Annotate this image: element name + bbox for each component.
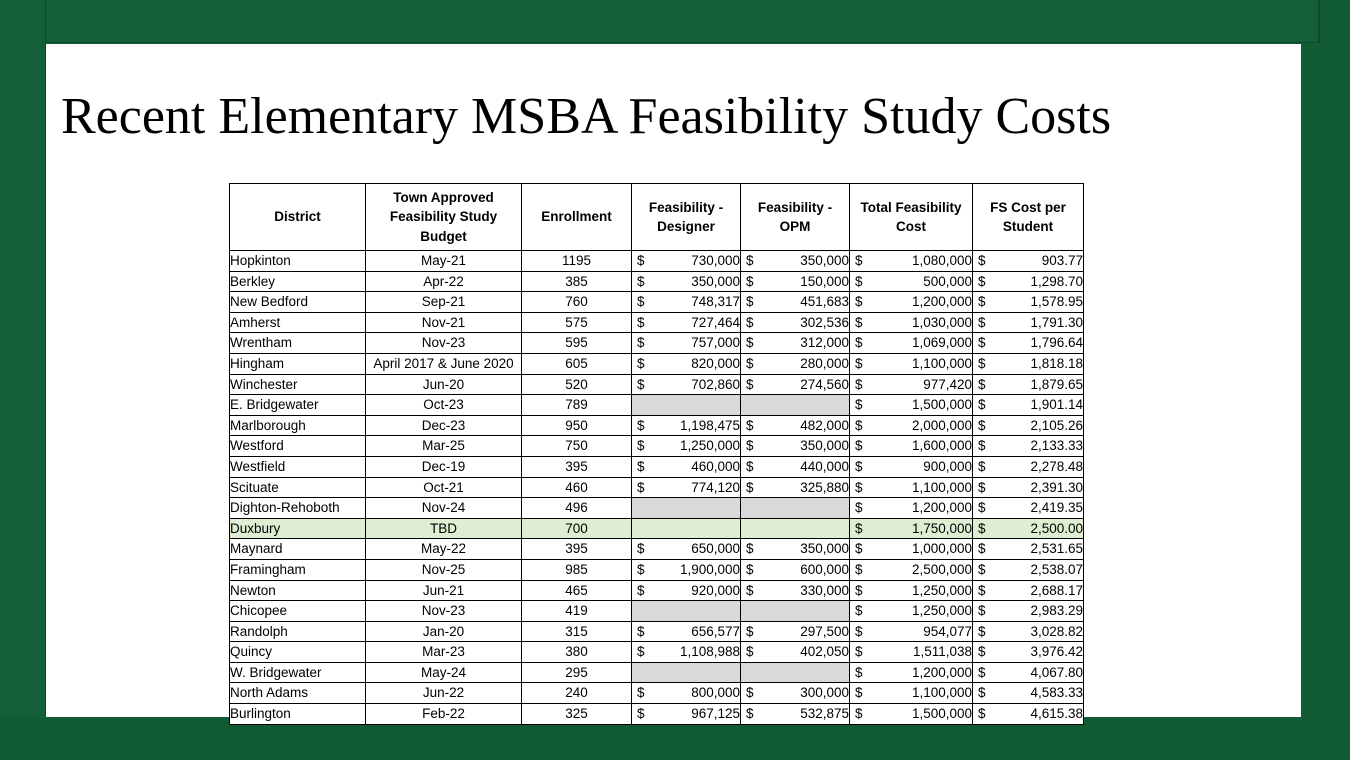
- currency-symbol: $: [855, 333, 863, 353]
- cell-per-student-value: 1,818.18: [1030, 356, 1083, 371]
- currency-symbol: $: [978, 539, 986, 559]
- cell-designer: $967,125: [632, 704, 741, 725]
- column-header-total-cost: Total Feasibility Cost: [850, 184, 973, 251]
- cell-enrollment: 240: [522, 683, 632, 704]
- table-row: E. BridgewaterOct-23789$1,500,000$1,901.…: [230, 395, 1084, 416]
- table-row: WinchesterJun-20520$702,860$274,560$977,…: [230, 374, 1084, 395]
- currency-symbol: $: [855, 663, 863, 683]
- cell-per-student: $1,901.14: [973, 395, 1084, 416]
- cell-budget-date: Feb-22: [366, 704, 522, 725]
- currency-symbol: $: [637, 642, 645, 662]
- currency-symbol: $: [637, 581, 645, 601]
- cell-district: Marlborough: [230, 415, 366, 436]
- cell-designer-value: 702,860: [691, 377, 740, 392]
- currency-symbol: $: [746, 478, 754, 498]
- cell-per-student-value: 1,298.70: [1030, 274, 1083, 289]
- cell-opm: [741, 518, 850, 539]
- cell-opm-value: 532,875: [800, 706, 849, 721]
- table-row: BerkleyApr-22385$350,000$150,000$500,000…: [230, 271, 1084, 292]
- currency-symbol: $: [637, 272, 645, 292]
- table-row: DuxburyTBD700$1,750,000$2,500.00: [230, 518, 1084, 539]
- cell-budget-date: Dec-19: [366, 456, 522, 477]
- currency-symbol: $: [855, 581, 863, 601]
- currency-symbol: $: [637, 333, 645, 353]
- cell-district: New Bedford: [230, 292, 366, 313]
- cell-district: Framingham: [230, 559, 366, 580]
- currency-symbol: $: [746, 292, 754, 312]
- cell-opm: $300,000: [741, 683, 850, 704]
- column-header-designer: Feasibility - Designer: [632, 184, 741, 251]
- currency-symbol: $: [978, 560, 986, 580]
- currency-symbol: $: [855, 601, 863, 621]
- cell-total: $1,069,000: [850, 333, 973, 354]
- currency-symbol: $: [855, 416, 863, 436]
- table-row: NewtonJun-21465$920,000$330,000$1,250,00…: [230, 580, 1084, 601]
- cell-designer-value: 920,000: [691, 583, 740, 598]
- cell-total: $1,200,000: [850, 662, 973, 683]
- table-row: Dighton-RehobothNov-24496$1,200,000$2,41…: [230, 498, 1084, 519]
- cell-per-student-value: 1,901.14: [1030, 397, 1083, 412]
- cell-designer-value: 774,120: [691, 480, 740, 495]
- cell-enrollment: 419: [522, 601, 632, 622]
- table-row: W. BridgewaterMay-24295$1,200,000$4,067.…: [230, 662, 1084, 683]
- cell-total: $1,200,000: [850, 498, 973, 519]
- currency-symbol: $: [746, 333, 754, 353]
- currency-symbol: $: [855, 642, 863, 662]
- cell-designer: [632, 662, 741, 683]
- cell-budget-date: May-24: [366, 662, 522, 683]
- currency-symbol: $: [746, 622, 754, 642]
- currency-symbol: $: [746, 457, 754, 477]
- currency-symbol: $: [855, 375, 863, 395]
- cell-per-student: $3,976.42: [973, 642, 1084, 663]
- cell-total: $2,500,000: [850, 559, 973, 580]
- cell-designer: $1,108,988: [632, 642, 741, 663]
- cell-district: Chicopee: [230, 601, 366, 622]
- table-row: New BedfordSep-21760$748,317$451,683$1,2…: [230, 292, 1084, 313]
- cell-district: E. Bridgewater: [230, 395, 366, 416]
- cell-designer: $920,000: [632, 580, 741, 601]
- table-row: HopkintonMay-211195$730,000$350,000$1,08…: [230, 251, 1084, 272]
- currency-symbol: $: [978, 416, 986, 436]
- cell-designer: $702,860: [632, 374, 741, 395]
- cell-enrollment: 595: [522, 333, 632, 354]
- cell-total-value: 1,000,000: [912, 541, 972, 556]
- cell-district: Burlington: [230, 704, 366, 725]
- table-row: North AdamsJun-22240$800,000$300,000$1,1…: [230, 683, 1084, 704]
- cell-total-value: 2,000,000: [912, 418, 972, 433]
- cell-total-value: 2,500,000: [912, 562, 972, 577]
- cell-total: $1,250,000: [850, 601, 973, 622]
- currency-symbol: $: [978, 395, 986, 415]
- currency-symbol: $: [637, 292, 645, 312]
- cell-opm-value: 274,560: [800, 377, 849, 392]
- feasibility-study-costs-table: District Town Approved Feasibility Study…: [229, 183, 1084, 725]
- currency-symbol: $: [746, 581, 754, 601]
- cell-opm: $402,050: [741, 642, 850, 663]
- cell-opm-value: 150,000: [800, 274, 849, 289]
- table-row: RandolphJan-20315$656,577$297,500$954,07…: [230, 621, 1084, 642]
- cell-total-value: 1,250,000: [912, 603, 972, 618]
- cell-designer-value: 820,000: [691, 356, 740, 371]
- cell-per-student-value: 2,538.07: [1030, 562, 1083, 577]
- currency-symbol: $: [637, 354, 645, 374]
- currency-symbol: $: [855, 478, 863, 498]
- cell-opm: $302,536: [741, 312, 850, 333]
- cell-designer: [632, 498, 741, 519]
- cell-per-student: $2,983.29: [973, 601, 1084, 622]
- cell-district: Hopkinton: [230, 251, 366, 272]
- cell-enrollment: 295: [522, 662, 632, 683]
- cell-opm-value: 330,000: [800, 583, 849, 598]
- currency-symbol: $: [855, 251, 863, 271]
- cell-opm: $350,000: [741, 251, 850, 272]
- cell-per-student-value: 1,791.30: [1030, 315, 1083, 330]
- currency-symbol: $: [978, 251, 986, 271]
- cell-opm-value: 302,536: [800, 315, 849, 330]
- table-row: HinghamApril 2017 & June 2020605$820,000…: [230, 353, 1084, 374]
- currency-symbol: $: [746, 313, 754, 333]
- table-row: AmherstNov-21575$727,464$302,536$1,030,0…: [230, 312, 1084, 333]
- cell-enrollment: 465: [522, 580, 632, 601]
- cell-budget-date: Jan-20: [366, 621, 522, 642]
- cell-designer: $460,000: [632, 456, 741, 477]
- cell-budget-date: Oct-21: [366, 477, 522, 498]
- cell-per-student-value: 4,615.38: [1030, 706, 1083, 721]
- cell-budget-date: Nov-23: [366, 601, 522, 622]
- cell-total-value: 900,000: [923, 459, 972, 474]
- cell-enrollment: 575: [522, 312, 632, 333]
- cell-enrollment: 385: [522, 271, 632, 292]
- currency-symbol: $: [978, 519, 986, 539]
- cell-per-student-value: 1,879.65: [1030, 377, 1083, 392]
- cell-total: $1,000,000: [850, 539, 973, 560]
- currency-symbol: $: [746, 642, 754, 662]
- cell-designer: $757,000: [632, 333, 741, 354]
- currency-symbol: $: [855, 498, 863, 518]
- currency-symbol: $: [978, 498, 986, 518]
- cell-total-value: 1,200,000: [912, 665, 972, 680]
- currency-symbol: $: [637, 457, 645, 477]
- cell-designer: $727,464: [632, 312, 741, 333]
- cell-designer-value: 800,000: [691, 685, 740, 700]
- cell-total: $900,000: [850, 456, 973, 477]
- cell-designer-value: 460,000: [691, 459, 740, 474]
- cell-district: Winchester: [230, 374, 366, 395]
- cell-district: W. Bridgewater: [230, 662, 366, 683]
- cell-district: Wrentham: [230, 333, 366, 354]
- cell-per-student: $2,419.35: [973, 498, 1084, 519]
- cell-designer-value: 1,250,000: [680, 438, 740, 453]
- cell-designer: $350,000: [632, 271, 741, 292]
- currency-symbol: $: [978, 622, 986, 642]
- cell-budget-date: Nov-23: [366, 333, 522, 354]
- cell-opm: [741, 498, 850, 519]
- column-header-district: District: [230, 184, 366, 251]
- currency-symbol: $: [746, 354, 754, 374]
- cell-per-student: $4,583.33: [973, 683, 1084, 704]
- cell-district: Westfield: [230, 456, 366, 477]
- cell-designer-value: 967,125: [691, 706, 740, 721]
- cell-designer: $748,317: [632, 292, 741, 313]
- cell-total-value: 1,080,000: [912, 253, 972, 268]
- cell-designer-value: 650,000: [691, 541, 740, 556]
- cell-total-value: 954,077: [923, 624, 972, 639]
- cell-opm: $312,000: [741, 333, 850, 354]
- cell-total: $1,500,000: [850, 704, 973, 725]
- cell-budget-date: Sep-21: [366, 292, 522, 313]
- currency-symbol: $: [855, 395, 863, 415]
- currency-symbol: $: [855, 519, 863, 539]
- cell-budget-date: April 2017 & June 2020: [366, 353, 522, 374]
- cell-per-student: $2,538.07: [973, 559, 1084, 580]
- cell-opm-value: 482,000: [800, 418, 849, 433]
- cell-district: Randolph: [230, 621, 366, 642]
- cell-enrollment: 395: [522, 539, 632, 560]
- cell-enrollment: 985: [522, 559, 632, 580]
- table-row: WestfordMar-25750$1,250,000$350,000$1,60…: [230, 436, 1084, 457]
- cell-district: Amherst: [230, 312, 366, 333]
- feasibility-table-container: District Town Approved Feasibility Study…: [229, 183, 1084, 725]
- cell-budget-date: Jun-20: [366, 374, 522, 395]
- cell-budget-date: Jun-22: [366, 683, 522, 704]
- cell-enrollment: 520: [522, 374, 632, 395]
- cell-total: $1,100,000: [850, 477, 973, 498]
- cell-per-student: $4,067.80: [973, 662, 1084, 683]
- slide-root: Recent Elementary MSBA Feasibility Study…: [0, 0, 1350, 760]
- cell-district: Dighton-Rehoboth: [230, 498, 366, 519]
- cell-per-student-value: 1,578.95: [1030, 294, 1083, 309]
- cell-opm: $600,000: [741, 559, 850, 580]
- cell-opm: $274,560: [741, 374, 850, 395]
- currency-symbol: $: [855, 560, 863, 580]
- cell-district: Scituate: [230, 477, 366, 498]
- currency-symbol: $: [637, 704, 645, 724]
- cell-opm: [741, 601, 850, 622]
- cell-district: Duxbury: [230, 518, 366, 539]
- cell-total: $1,030,000: [850, 312, 973, 333]
- cell-per-student: $3,028.82: [973, 621, 1084, 642]
- table-body: HopkintonMay-211195$730,000$350,000$1,08…: [230, 251, 1084, 725]
- table-row: FraminghamNov-25985$1,900,000$600,000$2,…: [230, 559, 1084, 580]
- currency-symbol: $: [746, 436, 754, 456]
- cell-designer-value: 727,464: [691, 315, 740, 330]
- cell-total-value: 1,250,000: [912, 583, 972, 598]
- currency-symbol: $: [855, 622, 863, 642]
- cell-total: $1,200,000: [850, 292, 973, 313]
- cell-total: $977,420: [850, 374, 973, 395]
- cell-budget-date: Nov-25: [366, 559, 522, 580]
- table-header-row: District Town Approved Feasibility Study…: [230, 184, 1084, 251]
- cell-budget-date: Mar-25: [366, 436, 522, 457]
- cell-total-value: 500,000: [923, 274, 972, 289]
- cell-opm-value: 300,000: [800, 685, 849, 700]
- cell-opm-value: 600,000: [800, 562, 849, 577]
- cell-enrollment: 950: [522, 415, 632, 436]
- column-header-opm: Feasibility - OPM: [741, 184, 850, 251]
- cell-district: Berkley: [230, 271, 366, 292]
- cell-district: North Adams: [230, 683, 366, 704]
- currency-symbol: $: [978, 704, 986, 724]
- currency-symbol: $: [746, 704, 754, 724]
- cell-per-student-value: 2,105.26: [1030, 418, 1083, 433]
- cell-budget-date: May-22: [366, 539, 522, 560]
- cell-designer: [632, 395, 741, 416]
- cell-district: Hingham: [230, 353, 366, 374]
- currency-symbol: $: [746, 539, 754, 559]
- column-header-cost-per-student: FS Cost per Student: [973, 184, 1084, 251]
- cell-enrollment: 750: [522, 436, 632, 457]
- cell-opm-value: 350,000: [800, 541, 849, 556]
- cell-opm: $532,875: [741, 704, 850, 725]
- currency-symbol: $: [855, 354, 863, 374]
- cell-per-student: $1,791.30: [973, 312, 1084, 333]
- cell-per-student: $1,298.70: [973, 271, 1084, 292]
- table-row: ScituateOct-21460$774,120$325,880$1,100,…: [230, 477, 1084, 498]
- cell-opm-value: 350,000: [800, 253, 849, 268]
- table-row: MaynardMay-22395$650,000$350,000$1,000,0…: [230, 539, 1084, 560]
- currency-symbol: $: [978, 436, 986, 456]
- cell-designer: $1,250,000: [632, 436, 741, 457]
- cell-opm: $297,500: [741, 621, 850, 642]
- cell-designer: $774,120: [632, 477, 741, 498]
- cell-opm: $330,000: [741, 580, 850, 601]
- currency-symbol: $: [637, 436, 645, 456]
- cell-budget-date: Nov-24: [366, 498, 522, 519]
- cell-opm: $280,000: [741, 353, 850, 374]
- cell-per-student-value: 4,583.33: [1030, 685, 1083, 700]
- cell-opm: $350,000: [741, 436, 850, 457]
- cell-total: $1,500,000: [850, 395, 973, 416]
- cell-total: $1,750,000: [850, 518, 973, 539]
- currency-symbol: $: [978, 478, 986, 498]
- currency-symbol: $: [746, 683, 754, 703]
- currency-symbol: $: [978, 313, 986, 333]
- cell-total-value: 1,200,000: [912, 500, 972, 515]
- cell-opm: $150,000: [741, 271, 850, 292]
- cell-per-student: $1,578.95: [973, 292, 1084, 313]
- currency-symbol: $: [855, 457, 863, 477]
- cell-total: $1,511,038: [850, 642, 973, 663]
- currency-symbol: $: [978, 601, 986, 621]
- cell-total-value: 1,511,038: [913, 644, 972, 659]
- column-header-enrollment: Enrollment: [522, 184, 632, 251]
- currency-symbol: $: [637, 478, 645, 498]
- currency-symbol: $: [637, 539, 645, 559]
- cell-per-student: $2,500.00: [973, 518, 1084, 539]
- cell-per-student: $2,531.65: [973, 539, 1084, 560]
- cell-budget-date: Nov-21: [366, 312, 522, 333]
- currency-symbol: $: [855, 683, 863, 703]
- cell-per-student-value: 2,983.29: [1030, 603, 1083, 618]
- currency-symbol: $: [855, 292, 863, 312]
- cell-total-value: 1,100,000: [912, 356, 972, 371]
- cell-enrollment: 605: [522, 353, 632, 374]
- cell-opm-value: 325,880: [800, 480, 849, 495]
- currency-symbol: $: [746, 272, 754, 292]
- cell-per-student: $4,615.38: [973, 704, 1084, 725]
- cell-budget-date: TBD: [366, 518, 522, 539]
- cell-opm: $482,000: [741, 415, 850, 436]
- cell-enrollment: 496: [522, 498, 632, 519]
- cell-district: Maynard: [230, 539, 366, 560]
- cell-total-value: 1,500,000: [912, 706, 972, 721]
- table-row: WrenthamNov-23595$757,000$312,000$1,069,…: [230, 333, 1084, 354]
- cell-total: $954,077: [850, 621, 973, 642]
- cell-designer-value: 1,198,475: [680, 418, 740, 433]
- cell-total-value: 977,420: [923, 377, 972, 392]
- slide-canvas: Recent Elementary MSBA Feasibility Study…: [46, 44, 1301, 717]
- currency-symbol: $: [855, 704, 863, 724]
- currency-symbol: $: [855, 313, 863, 333]
- cell-per-student-value: 3,976.42: [1030, 644, 1083, 659]
- cell-per-student-value: 2,531.65: [1030, 541, 1083, 556]
- cell-total-value: 1,069,000: [912, 335, 972, 350]
- currency-symbol: $: [855, 436, 863, 456]
- cell-designer: $800,000: [632, 683, 741, 704]
- cell-budget-date: Mar-23: [366, 642, 522, 663]
- cell-enrollment: 395: [522, 456, 632, 477]
- currency-symbol: $: [978, 663, 986, 683]
- currency-symbol: $: [978, 333, 986, 353]
- cell-enrollment: 700: [522, 518, 632, 539]
- cell-designer: $656,577: [632, 621, 741, 642]
- cell-district: Quincy: [230, 642, 366, 663]
- currency-symbol: $: [637, 313, 645, 333]
- cell-opm-value: 280,000: [800, 356, 849, 371]
- cell-opm: $325,880: [741, 477, 850, 498]
- currency-symbol: $: [978, 457, 986, 477]
- cell-enrollment: 789: [522, 395, 632, 416]
- cell-per-student: $2,391.30: [973, 477, 1084, 498]
- cell-opm-value: 451,683: [800, 294, 849, 309]
- cell-enrollment: 315: [522, 621, 632, 642]
- table-header: District Town Approved Feasibility Study…: [230, 184, 1084, 251]
- currency-symbol: $: [978, 292, 986, 312]
- cell-designer: $820,000: [632, 353, 741, 374]
- cell-designer: $1,900,000: [632, 559, 741, 580]
- table-row: MarlboroughDec-23950$1,198,475$482,000$2…: [230, 415, 1084, 436]
- cell-total: $1,100,000: [850, 353, 973, 374]
- currency-symbol: $: [746, 251, 754, 271]
- cell-total-value: 1,600,000: [912, 438, 972, 453]
- cell-designer-value: 730,000: [691, 253, 740, 268]
- cell-district: Newton: [230, 580, 366, 601]
- currency-symbol: $: [978, 683, 986, 703]
- cell-enrollment: 325: [522, 704, 632, 725]
- currency-symbol: $: [746, 560, 754, 580]
- table-row: QuincyMar-23380$1,108,988$402,050$1,511,…: [230, 642, 1084, 663]
- cell-opm: $440,000: [741, 456, 850, 477]
- currency-symbol: $: [637, 622, 645, 642]
- column-header-budget: Town Approved Feasibility Study Budget: [366, 184, 522, 251]
- currency-symbol: $: [637, 683, 645, 703]
- currency-symbol: $: [978, 581, 986, 601]
- cell-per-student-value: 2,391.30: [1030, 480, 1083, 495]
- table-row: BurlingtonFeb-22325$967,125$532,875$1,50…: [230, 704, 1084, 725]
- cell-total: $1,250,000: [850, 580, 973, 601]
- cell-designer-value: 748,317: [691, 294, 740, 309]
- cell-total-value: 1,750,000: [912, 521, 972, 536]
- cell-opm: [741, 395, 850, 416]
- cell-per-student: $903.77: [973, 251, 1084, 272]
- cell-per-student-value: 2,133.33: [1030, 438, 1083, 453]
- cell-opm-value: 297,500: [800, 624, 849, 639]
- cell-opm-value: 440,000: [800, 459, 849, 474]
- cell-total-value: 1,100,000: [912, 480, 972, 495]
- cell-total: $500,000: [850, 271, 973, 292]
- currency-symbol: $: [746, 375, 754, 395]
